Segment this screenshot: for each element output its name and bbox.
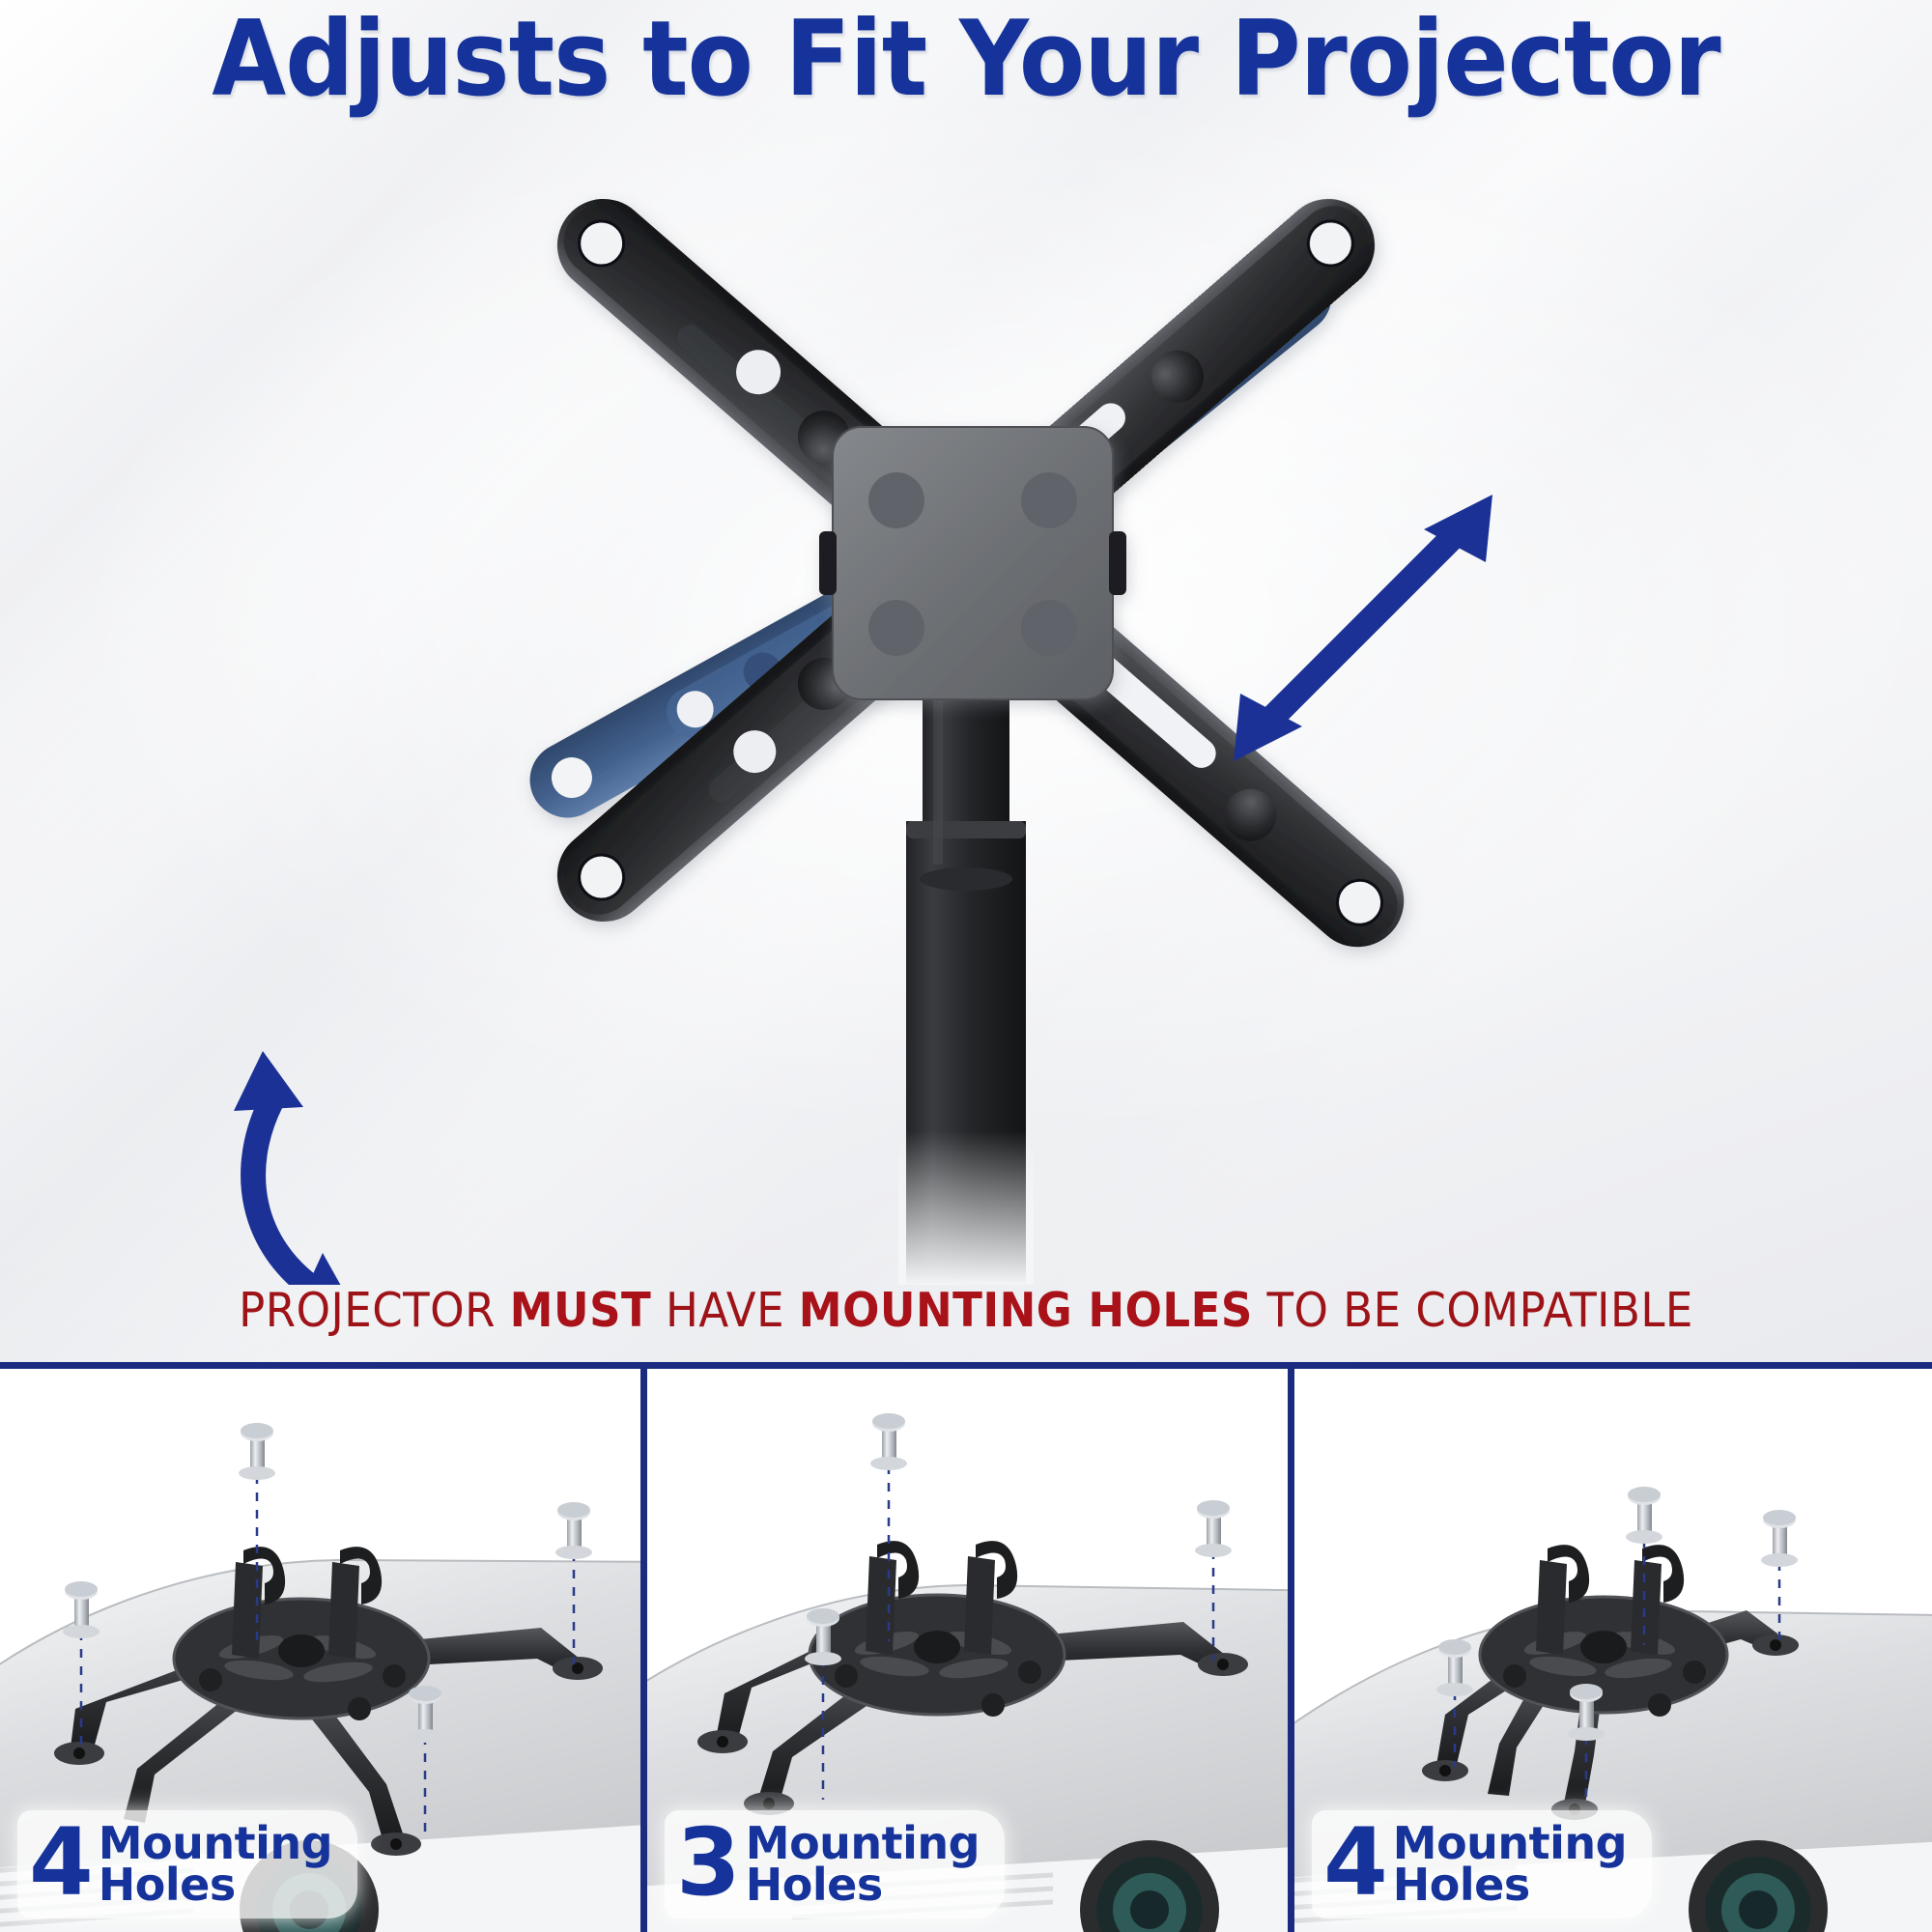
badge-label-line2: Holes [746, 1864, 980, 1906]
universal-mounting-plate [819, 427, 1126, 699]
plate-bolt-tr [1021, 472, 1077, 528]
plate-bolt-bl [868, 600, 924, 656]
section-divider-horizontal [0, 1362, 1932, 1369]
status-badge: 4 Mounting Holes [17, 1810, 357, 1918]
warning-part-3: HAVE [651, 1283, 799, 1338]
panel-divider-2 [1288, 1369, 1294, 1932]
compatibility-warning: PROJECTOR MUST HAVE MOUNTING HOLES TO BE… [77, 1287, 1855, 1334]
status-badge: 3 Mounting Holes [665, 1810, 1005, 1918]
status-badge: 4 Mounting Holes [1312, 1810, 1652, 1918]
product-infographic: Adjusts to Fit Your Projector [0, 0, 1932, 1932]
hero-section: Adjusts to Fit Your Projector [0, 0, 1932, 1366]
badge-count: 4 [1323, 1825, 1385, 1901]
plate-bolt-br [1021, 600, 1077, 656]
panel-three-holes: 3 Mounting Holes [647, 1369, 1288, 1932]
swivel-arrow [234, 1051, 359, 1285]
warning-part-5: TO BE COMPATIBLE [1253, 1283, 1693, 1338]
warning-must: MUST [510, 1283, 652, 1338]
warning-part-1: PROJECTOR [239, 1283, 510, 1338]
plate-bolt-tl [868, 472, 924, 528]
badge-label-line2: Holes [1393, 1864, 1627, 1906]
panel-four-holes-wide: 4 Mounting Holes [0, 1369, 640, 1932]
extend-arrow [1234, 495, 1492, 761]
panel-divider-1 [640, 1369, 647, 1932]
panel-four-holes-narrow: 4 Mounting Holes [1294, 1369, 1932, 1932]
badge-count: 4 [29, 1825, 91, 1901]
badge-label-line2: Holes [99, 1864, 332, 1906]
projector-mount-illustration [0, 145, 1932, 1285]
warning-mounting-holes: MOUNTING HOLES [799, 1283, 1253, 1338]
mounting-configuration-panels: 4 Mounting Holes [0, 1369, 1932, 1932]
page-title: Adjusts to Fit Your Projector [77, 4, 1855, 117]
badge-count: 3 [676, 1825, 738, 1901]
